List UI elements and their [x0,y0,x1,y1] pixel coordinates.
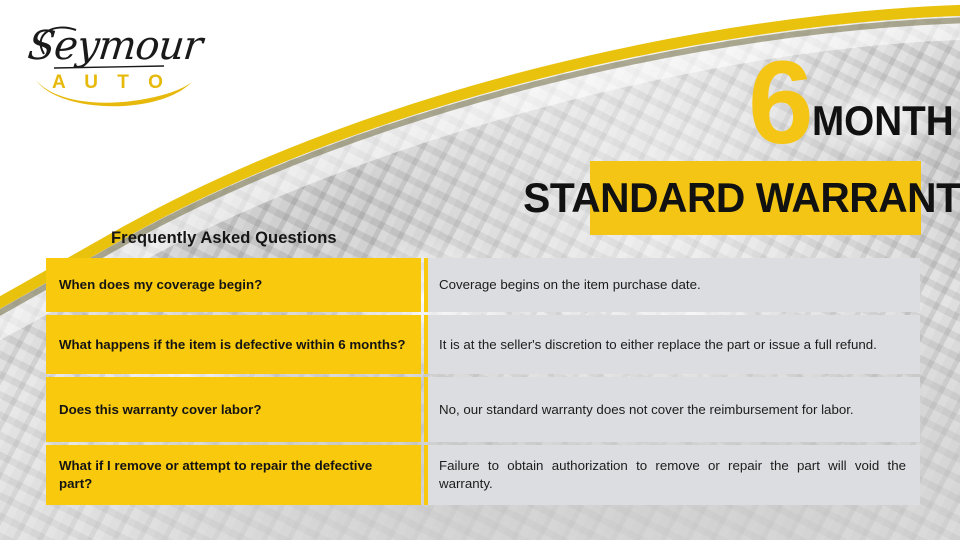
faq-table: When does my coverage begin? Coverage be… [46,258,920,508]
logo-swoosh-icon [14,16,204,111]
faq-question-cell: When does my coverage begin? [46,258,421,312]
table-row: What happens if the item is defective wi… [46,315,920,374]
faq-question-cell: What if I remove or attempt to repair th… [46,445,421,505]
faq-heading: Frequently Asked Questions [111,229,337,248]
table-row: When does my coverage begin? Coverage be… [46,258,920,312]
standard-warranty-label: STANDARD WARRANTY [524,174,960,222]
faq-question-cell: What happens if the item is defective wi… [46,315,421,374]
faq-answer-cell: Coverage begins on the item purchase dat… [424,258,920,312]
faq-answer-cell: Failure to obtain authorization to remov… [424,445,920,505]
warranty-duration-unit: MONTH [812,100,954,142]
warranty-slide: Seymour A U T O 6 MONTH STANDARD WARRANT… [0,0,960,540]
table-row: What if I remove or attempt to repair th… [46,445,920,505]
faq-answer-cell: It is at the seller's discretion to eith… [424,315,920,374]
table-row: Does this warranty cover labor? No, our … [46,377,920,442]
standard-warranty-banner: STANDARD WARRANTY [590,161,921,235]
faq-question-cell: Does this warranty cover labor? [46,377,421,442]
warranty-duration-number: 6 [748,44,812,162]
faq-answer-cell: No, our standard warranty does not cover… [424,377,920,442]
seymour-auto-logo[interactable]: Seymour A U T O [14,16,204,111]
